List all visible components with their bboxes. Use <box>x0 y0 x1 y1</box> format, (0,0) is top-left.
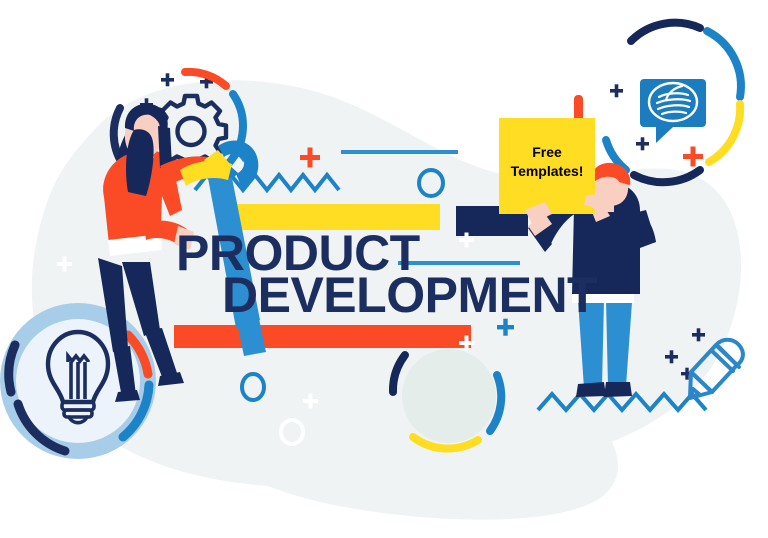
sticky-note-line-2: Templates! <box>499 162 595 181</box>
sticky-note-line-1: Free <box>499 143 595 162</box>
speech-bubble-icon <box>640 79 706 143</box>
page-title-line-2: DEVELOPMENT <box>222 269 597 321</box>
illustration-canvas: PRODUCT DEVELOPMENT Free Templates! <box>0 0 768 538</box>
bar-orange <box>174 325 471 348</box>
sticky-note-text: Free Templates! <box>499 143 595 181</box>
